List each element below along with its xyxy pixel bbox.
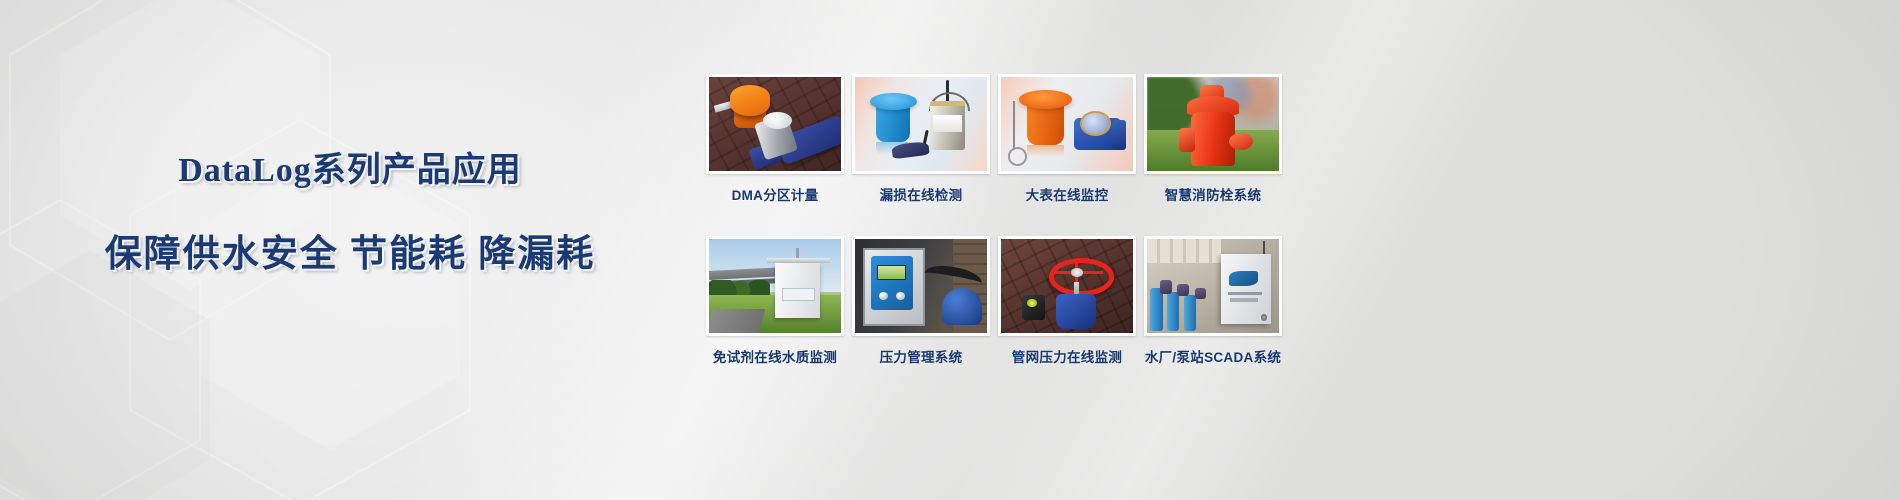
large-meter-photo	[1001, 77, 1133, 171]
product-caption: 管网压力在线监测	[1012, 346, 1122, 366]
product-card-leak-detection[interactable]: 漏损在线检测	[852, 74, 990, 234]
thumbnail-frame[interactable]	[998, 236, 1136, 336]
thumbnail-frame[interactable]	[852, 236, 990, 336]
product-application-banner: DataLog系列产品应用 保障供水安全 节能耗 降漏耗 DMA分区计量	[0, 0, 1900, 500]
product-card-pressure-management[interactable]: 压力管理系统	[852, 236, 990, 396]
smart-hydrant-photo	[1147, 77, 1279, 171]
product-card-scada[interactable]: 水厂/泵站SCADA系统	[1144, 236, 1282, 396]
pipe-pressure-photo	[1001, 239, 1133, 333]
product-grid: DMA分区计量 漏损在线检测 大表在线监控	[706, 74, 1282, 396]
pressure-management-photo	[855, 239, 987, 333]
headline-line-2: 保障供水安全 节能耗 降漏耗	[0, 223, 700, 277]
product-card-pipe-pressure[interactable]: 管网压力在线监测	[998, 236, 1136, 396]
product-card-smart-hydrant[interactable]: 智慧消防栓系统	[1144, 74, 1282, 234]
product-caption: DMA分区计量	[732, 184, 819, 204]
dma-metering-photo	[709, 77, 841, 171]
headline-block: DataLog系列产品应用 保障供水安全 节能耗 降漏耗	[0, 142, 700, 277]
product-caption: 智慧消防栓系统	[1165, 184, 1262, 204]
product-caption: 水厂/泵站SCADA系统	[1145, 346, 1281, 366]
product-card-water-quality[interactable]: 免试剂在线水质监测	[706, 236, 844, 396]
headline-line-1: DataLog系列产品应用	[0, 142, 700, 191]
product-caption: 免试剂在线水质监测	[713, 346, 837, 366]
product-card-dma-metering[interactable]: DMA分区计量	[706, 74, 844, 234]
product-caption: 压力管理系统	[880, 346, 963, 366]
thumbnail-frame[interactable]	[998, 74, 1136, 174]
product-card-large-meter[interactable]: 大表在线监控	[998, 74, 1136, 234]
thumbnail-frame[interactable]	[706, 74, 844, 174]
thumbnail-frame[interactable]	[852, 74, 990, 174]
product-caption: 漏损在线检测	[880, 184, 963, 204]
thumbnail-frame[interactable]	[706, 236, 844, 336]
product-caption: 大表在线监控	[1026, 184, 1109, 204]
thumbnail-frame[interactable]	[1144, 236, 1282, 336]
thumbnail-frame[interactable]	[1144, 74, 1282, 174]
leak-detection-photo	[855, 77, 987, 171]
scada-photo	[1147, 239, 1279, 333]
water-quality-photo	[709, 239, 841, 333]
